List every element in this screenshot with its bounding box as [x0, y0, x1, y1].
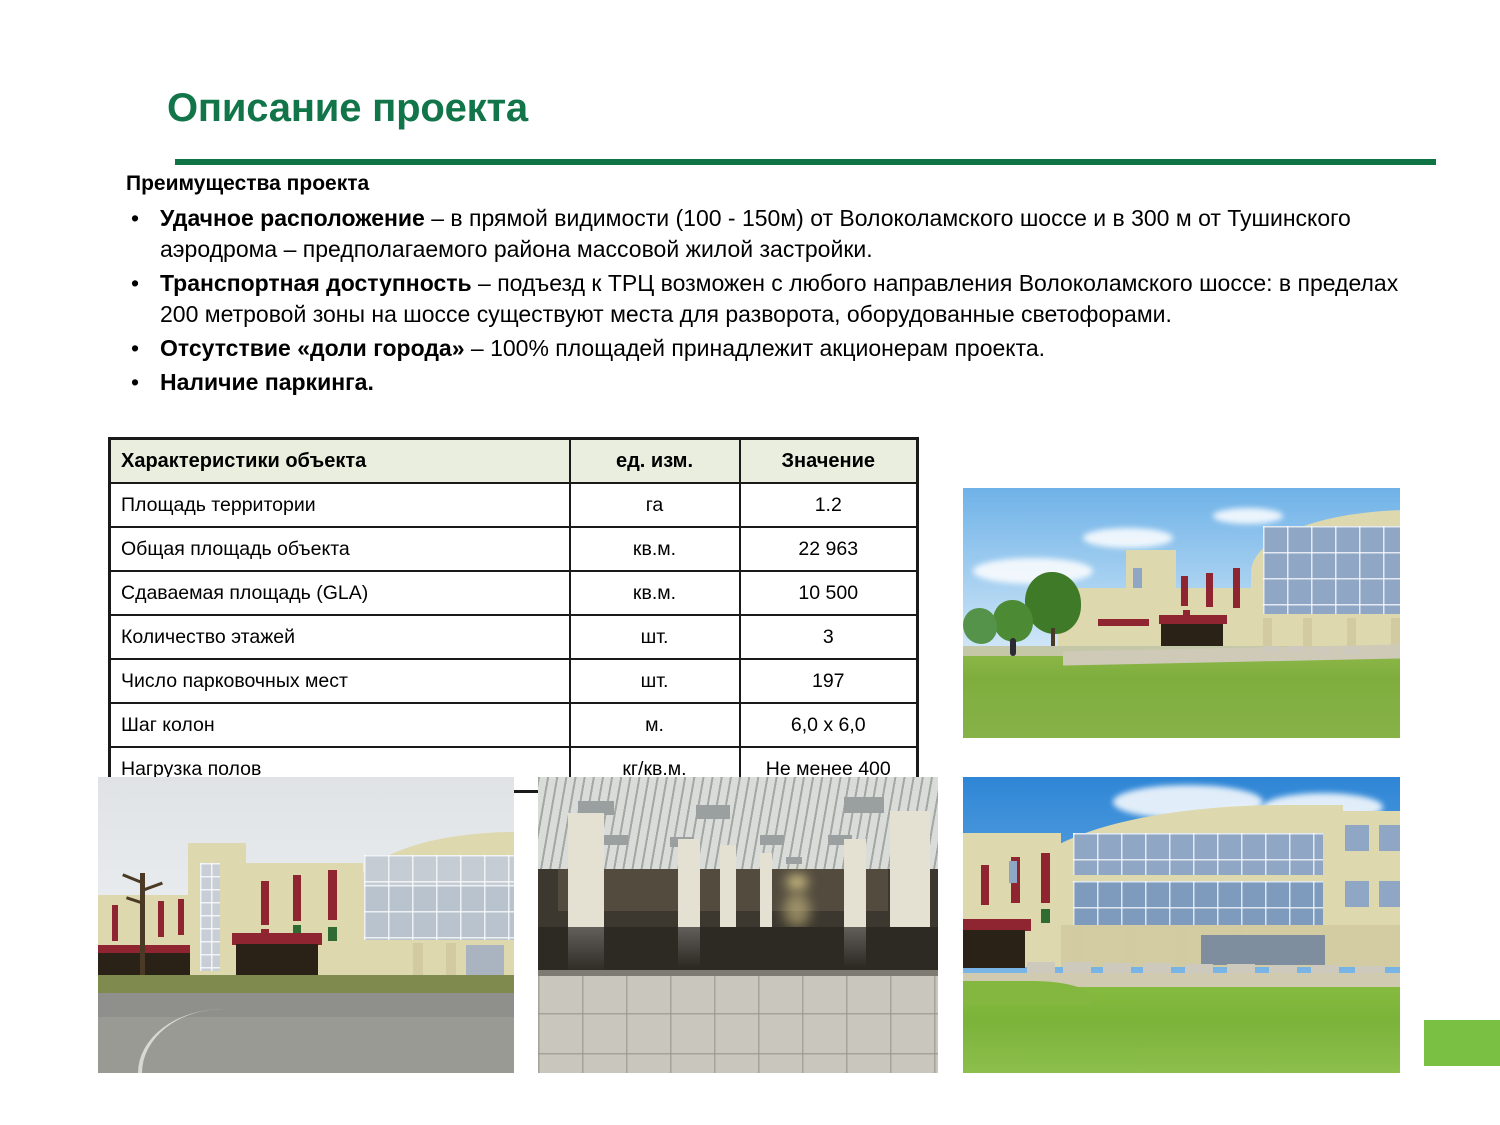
list-item: • Наличие паркинга. [124, 367, 1436, 398]
cell-value: 1.2 [740, 483, 918, 527]
list-item-title: Отсутствие «доли города» [160, 335, 465, 361]
cell-name: Сдаваемая площадь (GLA) [110, 571, 570, 615]
table-row: Количество этажей шт. 3 [110, 615, 918, 659]
section-subheading: Преимущества проекта [126, 172, 369, 196]
list-item: • Отсутствие «доли города» – 100% площад… [124, 333, 1436, 364]
cell-name: Шаг колон [110, 703, 570, 747]
cell-name: Общая площадь объекта [110, 527, 570, 571]
table-row: Число парковочных мест шт. 197 [110, 659, 918, 703]
cell-name: Количество этажей [110, 615, 570, 659]
bullet-marker: • [131, 367, 139, 398]
table-header-row: Характеристики объекта ед. изм. Значение [110, 439, 918, 484]
cell-unit: кв.м. [570, 527, 740, 571]
cell-unit: кв.м. [570, 571, 740, 615]
cell-value: 6,0 x 6,0 [740, 703, 918, 747]
list-item: • Удачное расположение – в прямой видимо… [124, 203, 1436, 265]
photo-exterior-front [963, 777, 1400, 1073]
cell-name: Площадь территории [110, 483, 570, 527]
corner-accent-bar [1424, 1020, 1500, 1066]
list-item: • Транспортная доступность – подъезд к Т… [124, 268, 1436, 330]
cell-value: 3 [740, 615, 918, 659]
cell-name: Число парковочных мест [110, 659, 570, 703]
table-row: Сдаваемая площадь (GLA) кв.м. 10 500 [110, 571, 918, 615]
bullet-marker: • [131, 268, 139, 299]
column-header-name: Характеристики объекта [110, 439, 570, 484]
photo-exterior-overcast [98, 777, 514, 1073]
list-item-title: Транспортная доступность [160, 270, 472, 296]
list-item-text: – 100% площадей принадлежит акционерам п… [465, 335, 1046, 361]
column-header-value: Значение [740, 439, 918, 484]
advantages-list: • Удачное расположение – в прямой видимо… [124, 203, 1436, 401]
table-row: Общая площадь объекта кв.м. 22 963 [110, 527, 918, 571]
table-row: Площадь территории га 1.2 [110, 483, 918, 527]
photo-interior-hall [538, 777, 938, 1073]
column-header-unit: ед. изм. [570, 439, 740, 484]
list-item-title: Наличие паркинга. [160, 369, 374, 395]
bullet-marker: • [131, 203, 139, 234]
bullet-marker: • [131, 333, 139, 364]
object-specs-table: Характеристики объекта ед. изм. Значение… [108, 437, 919, 793]
cell-value: 197 [740, 659, 918, 703]
page-title: Описание проекта [167, 86, 528, 131]
title-divider [175, 159, 1436, 165]
cell-unit: м. [570, 703, 740, 747]
cell-value: 22 963 [740, 527, 918, 571]
cell-unit: га [570, 483, 740, 527]
table-row: Шаг колон м. 6,0 x 6,0 [110, 703, 918, 747]
cell-value: 10 500 [740, 571, 918, 615]
cell-unit: шт. [570, 615, 740, 659]
cell-unit: шт. [570, 659, 740, 703]
list-item-title: Удачное расположение [160, 205, 425, 231]
photo-exterior-sunny-side [963, 488, 1400, 738]
